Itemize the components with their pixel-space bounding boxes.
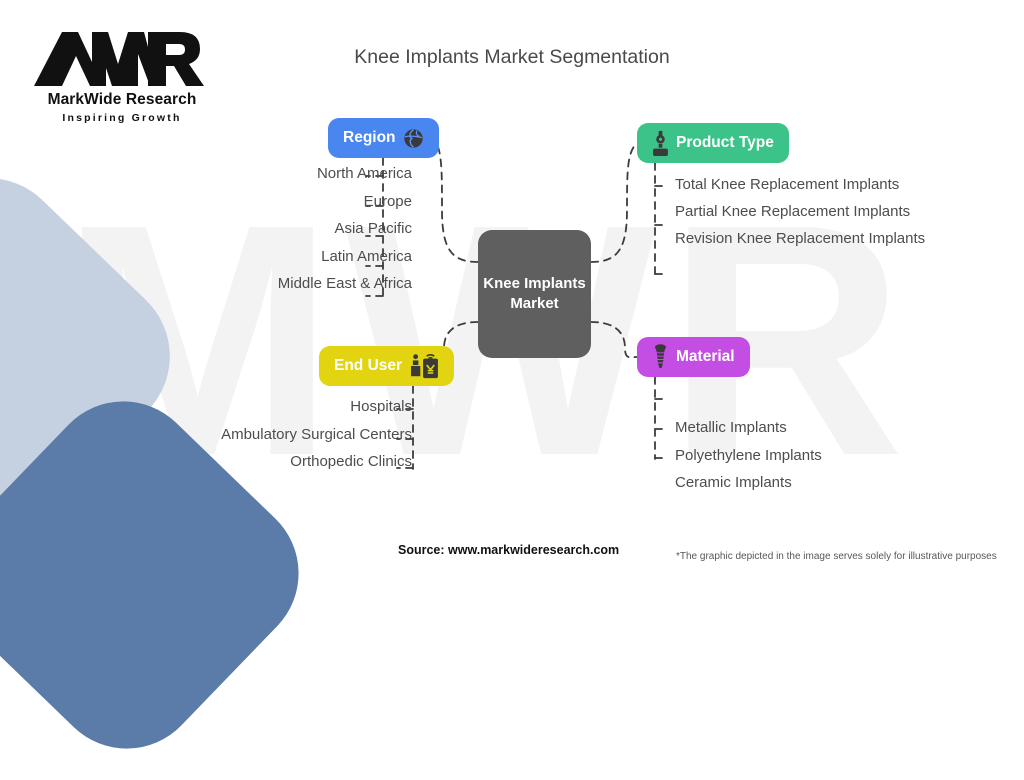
center-node[interactable]: Knee Implants Market <box>478 230 591 358</box>
ticks-product <box>655 186 668 274</box>
center-node-label: Knee Implants Market <box>478 274 591 314</box>
leaf-item[interactable]: Total Knee Replacement Implants <box>675 175 945 195</box>
leaf-list-material: Metallic Implants Polyethylene Implants … <box>675 419 822 502</box>
leaf-item[interactable]: Ambulatory Surgical Centers <box>221 426 412 443</box>
leaf-item[interactable]: Metallic Implants <box>675 419 822 436</box>
leaf-item[interactable]: North America <box>278 165 412 182</box>
brand-name: MarkWide Research <box>22 91 222 109</box>
branch-badge-product-type[interactable]: Product Type <box>637 123 789 163</box>
leaf-list-end-user: Hospitals Ambulatory Surgical Centers Or… <box>221 398 412 481</box>
leaf-item[interactable]: Partial Knee Replacement Implants <box>675 202 945 222</box>
leaf-item[interactable]: Middle East & Africa <box>278 275 412 292</box>
leaf-item[interactable]: Orthopedic Clinics <box>221 453 412 470</box>
page-title: Knee Implants Market Segmentation <box>0 46 1024 69</box>
disclaimer-text: *The graphic depicted in the image serve… <box>676 551 997 562</box>
wire-center-region <box>434 138 478 262</box>
leaf-item[interactable]: Hospitals <box>221 398 412 415</box>
leaf-list-product-type: Total Knee Replacement Implants Partial … <box>675 175 945 256</box>
leaf-item[interactable]: Latin America <box>278 248 412 265</box>
leaf-item[interactable]: Asia Pacific <box>278 220 412 237</box>
source-text: Source: www.markwideresearch.com <box>398 543 619 557</box>
brand-tagline: Inspiring Growth <box>22 112 222 124</box>
wire-center-product <box>591 143 637 262</box>
ticks-material <box>655 399 668 458</box>
end-user-devices-icon <box>409 353 439 379</box>
branch-badge-region[interactable]: Region <box>328 118 439 158</box>
leaf-item[interactable]: Revision Knee Replacement Implants <box>675 229 945 249</box>
leaf-item[interactable]: Ceramic Implants <box>675 474 822 491</box>
screw-implant-icon <box>652 344 669 370</box>
branch-label-product-type: Product Type <box>676 134 774 152</box>
leaf-item[interactable]: Polyethylene Implants <box>675 447 822 464</box>
branch-badge-end-user[interactable]: End User <box>319 346 454 386</box>
knee-implant-icon <box>652 130 669 156</box>
branch-label-material: Material <box>676 348 735 366</box>
globe-icon <box>403 128 424 149</box>
branch-label-region: Region <box>343 129 396 147</box>
brand-logo: MarkWide Research Inspiring Growth <box>22 28 222 124</box>
wire-center-material <box>591 322 637 357</box>
leaf-list-region: North America Europe Asia Pacific Latin … <box>278 165 412 303</box>
leaf-item[interactable]: Europe <box>278 193 412 210</box>
branch-label-end-user: End User <box>334 357 402 375</box>
branch-badge-material[interactable]: Material <box>637 337 750 377</box>
